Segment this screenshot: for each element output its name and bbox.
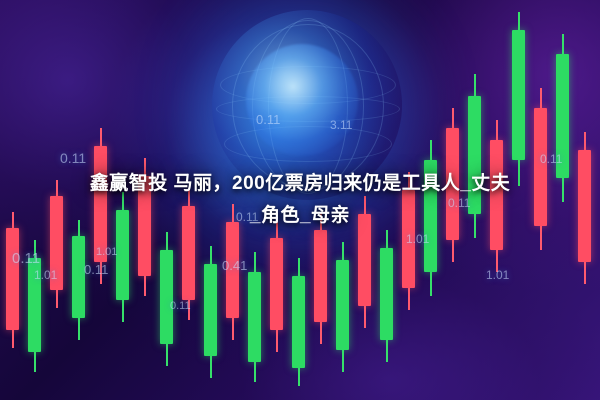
caption-line-1: 鑫赢智投 马丽，200亿票房归来仍是工具人_丈夫: [0, 168, 600, 200]
banner-image: 0.110.111.010.111.010.113.110.110.411.01…: [0, 0, 600, 400]
price-label: 1.01: [486, 268, 509, 282]
price-label: 0.11: [170, 300, 191, 312]
price-label: 3.11: [330, 118, 352, 132]
price-label: 0.11: [60, 150, 86, 166]
price-label: 1.01: [34, 268, 57, 282]
price-label: 0.11: [540, 152, 562, 166]
caption-text: 鑫赢智投 马丽，200亿票房归来仍是工具人_丈夫 _角色_母亲: [0, 168, 600, 232]
price-label: 0.11: [256, 112, 280, 127]
price-label: 1.01: [96, 246, 117, 258]
price-label: 0.11: [12, 250, 40, 267]
price-label: 1.01: [406, 232, 429, 246]
price-label: 0.11: [84, 262, 108, 277]
price-label: 0.41: [222, 258, 247, 273]
caption-line-2: _角色_母亲: [0, 200, 600, 232]
